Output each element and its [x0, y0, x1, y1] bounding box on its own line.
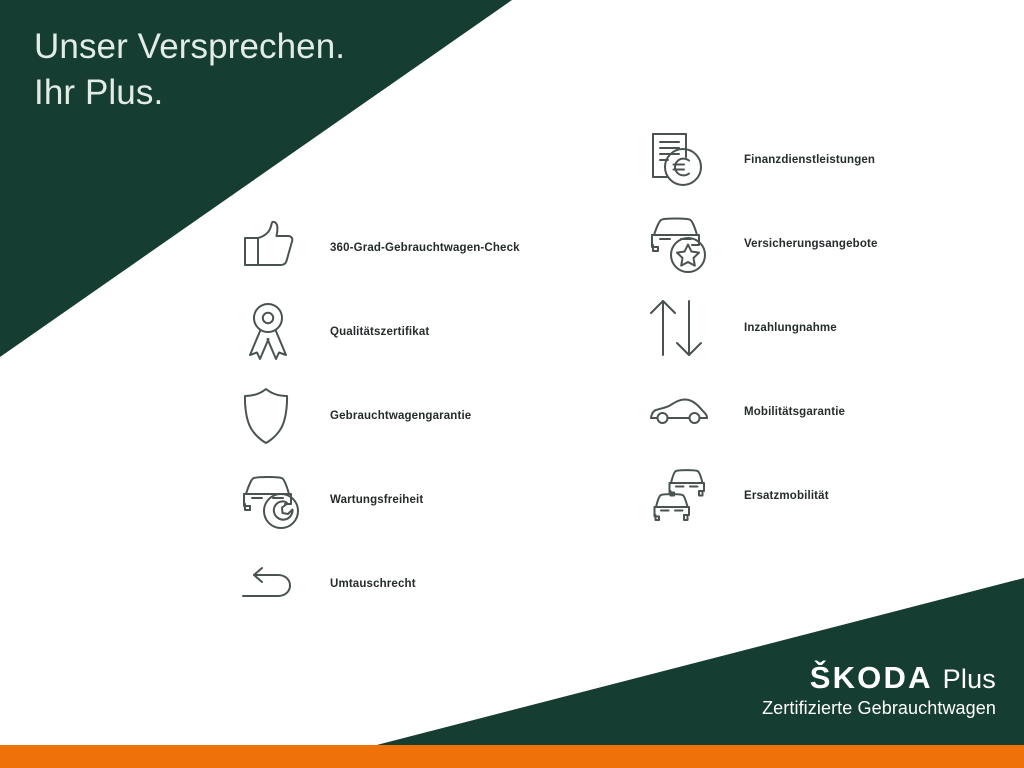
feature-label: Wartungsfreiheit	[330, 494, 423, 506]
brand-logo: ŠKODA Plus Zertifizierte Gebrauchtwagen	[762, 661, 996, 720]
feature-item: Umtauschrecht	[240, 542, 520, 626]
feature-item: 360-Grad-Gebrauchtwagen-Check	[240, 206, 520, 290]
feature-item: Qualitätszertifikat	[240, 290, 520, 374]
up-down-arrows-icon	[648, 297, 716, 359]
two-cars-icon	[648, 465, 716, 527]
feature-column-left: 360-Grad-Gebrauchtwagen-Check Qualitätsz…	[240, 206, 520, 626]
brand-tagline: Zertifizierte Gebrauchtwagen	[762, 696, 996, 720]
car-side-icon	[648, 381, 716, 443]
document-euro-icon	[648, 129, 716, 191]
feature-label: Gebrauchtwagengarantie	[330, 410, 471, 422]
feature-item: Ersatzmobilität	[648, 454, 878, 538]
feature-item: Versicherungsangebote	[648, 202, 878, 286]
feature-label: Mobilitätsgarantie	[744, 406, 845, 418]
feature-label: Versicherungsangebote	[744, 238, 878, 250]
headline: Unser Versprechen. Ihr Plus.	[34, 24, 345, 116]
feature-label: Umtauschrecht	[330, 578, 416, 590]
award-rosette-icon	[240, 301, 308, 363]
return-arrow-icon	[240, 553, 308, 615]
feature-column-right: Finanzdienstleistungen Versicherungsange…	[648, 118, 878, 538]
car-star-icon	[648, 213, 716, 275]
feature-label: 360-Grad-Gebrauchtwagen-Check	[330, 242, 520, 254]
headline-line-2: Ihr Plus.	[34, 70, 345, 116]
feature-item: Gebrauchtwagengarantie	[240, 374, 520, 458]
feature-label: Ersatzmobilität	[744, 490, 829, 502]
promo-banner: Unser Versprechen. Ihr Plus. 360-Grad-Ge…	[0, 0, 1024, 768]
car-wrench-icon	[240, 469, 308, 531]
feature-item: Wartungsfreiheit	[240, 458, 520, 542]
feature-label: Qualitätszertifikat	[330, 326, 429, 338]
feature-item: Mobilitätsgarantie	[648, 370, 878, 454]
brand-name-row: ŠKODA Plus	[762, 661, 996, 695]
shield-icon	[240, 385, 308, 447]
feature-label: Finanzdienstleistungen	[744, 154, 875, 166]
skoda-wordmark: ŠKODA	[810, 661, 933, 695]
feature-label: Inzahlungnahme	[744, 322, 837, 334]
feature-item: Inzahlungnahme	[648, 286, 878, 370]
thumbs-up-icon	[240, 217, 308, 279]
feature-item: Finanzdienstleistungen	[648, 118, 878, 202]
headline-line-1: Unser Versprechen.	[34, 24, 345, 70]
orange-bottom-bar	[0, 745, 1024, 768]
plus-wordmark: Plus	[943, 664, 996, 694]
